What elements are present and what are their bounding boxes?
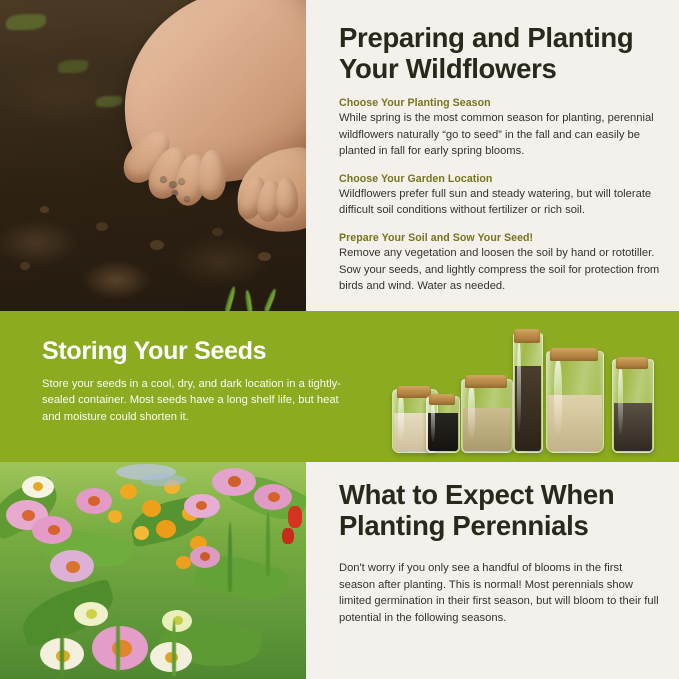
yellow-flower [134, 526, 149, 540]
section-storing-seeds: Storing Your Seeds Store your seeds in a… [0, 311, 679, 462]
seed-jar [546, 351, 604, 453]
planting-block-soil: Prepare Your Soil and Sow Your Seed! Rem… [339, 232, 661, 295]
stem [116, 612, 120, 672]
finger [197, 150, 227, 201]
stem [172, 620, 176, 676]
seed-jar [513, 333, 543, 453]
soil-greenery [96, 96, 122, 107]
yellow-flower [120, 484, 137, 499]
flower-disc [112, 640, 132, 657]
red-flower [288, 506, 302, 528]
flower-disc [88, 496, 100, 506]
seed [172, 190, 178, 195]
stem [228, 522, 232, 592]
seed-jar [461, 379, 513, 453]
body-what-to-expect: Don't worry if you only see a handful of… [339, 560, 661, 626]
body-planting-season: While spring is the most common season f… [339, 110, 661, 160]
yellow-flower [108, 510, 122, 523]
flower-disc [33, 482, 43, 491]
cork-lid [616, 357, 648, 369]
flower-disc [196, 501, 207, 510]
planting-block-location: Choose Your Garden Location Wildflowers … [339, 173, 661, 219]
seed [184, 196, 190, 201]
soil-planting-photo [0, 0, 306, 311]
soil-clod [96, 222, 108, 231]
flower-disc [48, 525, 60, 535]
soil-clod [258, 252, 271, 261]
glass-highlight [554, 360, 562, 434]
stem [266, 512, 270, 576]
soil-clod [150, 240, 164, 250]
soil-greenery [6, 14, 46, 30]
soil-clod [20, 262, 30, 270]
page-title-preparing: Preparing and Planting Your Wildflowers [339, 0, 661, 84]
flower-disc [22, 510, 35, 521]
flower-disc [268, 492, 280, 502]
seed [160, 176, 167, 182]
planting-copy-column: Preparing and Planting Your Wildflowers … [339, 0, 661, 311]
planting-block-season: Choose Your Planting Season While spring… [339, 97, 661, 160]
red-flower [282, 528, 294, 544]
lavender-haze [140, 474, 186, 486]
glass-highlight [468, 386, 475, 439]
subheading-garden-location: Choose Your Garden Location [339, 173, 661, 185]
soil-clod [40, 206, 49, 213]
expect-copy-column: What to Expect When Planting Perennials … [339, 462, 661, 626]
section-preparing-planting: Preparing and Planting Your Wildflowers … [0, 0, 679, 311]
soil-greenery [58, 60, 88, 73]
seed [169, 181, 177, 187]
yellow-flower [176, 556, 191, 569]
soil-clod [212, 228, 223, 236]
seed-jars-photo [388, 311, 672, 462]
cork-lid [514, 329, 540, 343]
page-title-storing: Storing Your Seeds [42, 337, 342, 365]
seed-jar [612, 359, 654, 453]
flower-disc [86, 609, 97, 619]
page-title-expect: What to Expect When Planting Perennials [339, 462, 661, 541]
seed [178, 178, 185, 184]
flower-disc [66, 561, 80, 573]
body-prepare-soil: Remove any vegetation and loosen the soi… [339, 245, 661, 295]
body-storing-seeds: Store your seeds in a cool, dry, and dar… [42, 376, 342, 425]
cork-lid [397, 386, 431, 398]
wildflower-meadow-photo [0, 462, 306, 679]
infographic-root: Preparing and Planting Your Wildflowers … [0, 0, 679, 679]
flower-disc [228, 476, 241, 487]
yellow-flower [156, 520, 176, 538]
flower-disc [200, 552, 210, 561]
subheading-planting-season: Choose Your Planting Season [339, 97, 661, 109]
cork-lid [429, 394, 455, 405]
cork-lid [465, 375, 507, 388]
storing-copy-column: Storing Your Seeds Store your seeds in a… [42, 337, 342, 425]
body-garden-location: Wildflowers prefer full sun and steady w… [339, 186, 661, 219]
stem [60, 622, 64, 676]
subheading-prepare-soil: Prepare Your Soil and Sow Your Seed! [339, 232, 661, 244]
cork-lid [550, 348, 598, 361]
section-what-to-expect: What to Expect When Planting Perennials … [0, 462, 679, 679]
yellow-flower [142, 500, 161, 517]
